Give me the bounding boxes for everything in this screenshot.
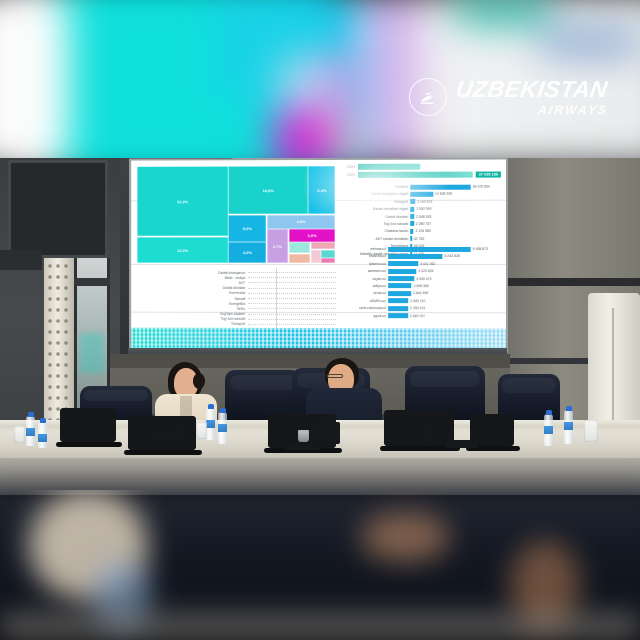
bar-label: samtsem.uz [342,269,388,273]
bar-chart-row[interactable]: agmk.uz2 260 707 [342,313,503,319]
bar-chart-row[interactable]: Chakana savdo2 234 583 [342,228,503,234]
bar-chart-domains: mehnat.uz9 458 873bolalvita.uz6 242 828t… [342,246,503,320]
bar-label: Chakana savdo [342,229,410,233]
treemap-cell[interactable] [289,242,311,253]
bar-fill [388,306,408,311]
blur-shape [0,0,70,160]
bar-label: tptkerlov.uz [342,262,388,266]
bar-chart-row[interactable]: sayfer.uz3 005 473 [342,276,503,282]
bar-value: 3 149 673 [417,200,432,204]
kpi-total-badge: 37 035 186 [476,172,501,178]
list-item-label: Sanoat [137,296,248,300]
bar-label: agmk.uz [342,314,388,318]
water-bottle [564,410,573,444]
bar-label: Davlat xizmatlari organi [342,207,410,211]
list-item-label: AKT [137,281,248,285]
kpi-year-label: 2025 [342,173,355,177]
leader-line [248,277,336,278]
monitor-base [124,450,202,455]
bar-value: 32 763 [414,237,424,241]
bar-value: 2 642 590 [413,291,428,295]
leader-line [248,282,336,283]
conference-photo: 31,3%12,0%18,6%6,4%5,0%4,0%4,8%3,7%3,0% … [0,158,640,495]
leader-line [248,303,336,304]
monitor-base [56,442,122,447]
bar-fill [388,313,408,318]
bar-fill [388,254,442,259]
list-item-label: Tog'-kon sanoati [137,317,248,321]
bar-fill [388,298,408,303]
bottle-cap [40,418,46,423]
bottle-cap [220,408,226,413]
bar-value: 2 548 526 [416,214,431,218]
bar-fill [410,199,415,204]
bottle-cap [28,412,34,417]
bar-label: Davlat boshqaruv organi [342,192,410,196]
microphone-base [446,440,478,448]
bar-label: AKT sohasi xizmatlari [342,237,410,241]
treemap-cell[interactable]: 5,0% [229,215,266,242]
kpi-header: 2024 2025 37 035 186 [342,163,501,179]
bar-value: 2 293 101 [410,306,425,310]
bar-chart-row[interactable]: Tog'-kon sanoati2 280 757 [342,221,503,227]
bottle-label [26,428,35,436]
bar-label: ASMRu.uz [342,299,388,303]
bar-value: 3 005 473 [416,277,431,281]
kpi-year-prev: 2024 [342,165,355,169]
bottle-label [564,422,573,430]
treemap-cell[interactable] [321,258,335,263]
treemap-cell[interactable] [289,254,311,264]
microphone-base [148,438,178,445]
leader-line [248,308,336,309]
bar-value: 3 441 062 [420,262,435,266]
treemap-cell[interactable] [311,242,336,249]
leader-line [248,319,336,320]
treemap-cell[interactable]: 18,6% [229,166,308,214]
list-item-label: Ta'lim [137,307,248,311]
treemap-cell[interactable]: 3,0% [289,229,336,242]
bar-chart-row[interactable]: Transport3 149 673 [342,198,503,204]
bar-chart-row[interactable]: senat.uz2 642 590 [342,290,503,296]
water-bottle [544,414,553,446]
bottle-cap [546,410,552,415]
bottle-label [544,426,553,434]
bar-value: 2 280 757 [416,222,431,226]
microphone-arm [176,420,178,440]
drinking-glass [14,426,25,443]
bar-label: Davlat idoralari [342,214,410,218]
drinking-glass [196,422,207,439]
list-item-label: Energetika [137,301,248,305]
drinking-glass [298,430,309,442]
bar-value: 2 260 707 [410,314,425,318]
treemap-cell[interactable] [311,250,321,264]
brand-name: UZBEKISTAN [455,78,610,101]
bar-value: 3 223 626 [418,269,433,273]
left-dark-recess [8,160,108,258]
water-bottle [206,408,215,440]
monitor[interactable] [60,408,116,442]
bottle-label [206,420,215,428]
bar-chart-row[interactable]: Toshkent39 075 504 [342,184,503,190]
window-mullion [74,278,110,286]
bar-fill [410,229,413,234]
microphone-base [318,422,340,444]
treemap-cell[interactable] [321,250,335,258]
bottle-cap [208,404,214,409]
bar-label: sayfer.uz [342,277,388,281]
microphone-base [286,442,320,450]
window-reflection [80,333,104,373]
bar-chart-row[interactable]: bolalvita.uz6 242 828 [342,253,503,259]
kpi-bar-prev [358,164,420,170]
bar-value: 2 234 583 [416,229,431,233]
treemap-cell[interactable]: 12,0% [137,237,228,264]
treemap-cell[interactable]: 4,8% [267,215,336,229]
bar-value: 2 305 710 [410,299,425,303]
bar-chart-row[interactable]: Davlat xizmatlari organi2 682 590 [342,206,503,212]
bar-fill [410,221,414,226]
treemap-cell[interactable]: 6,4% [308,166,335,214]
bar-value: 2 696 355 [414,284,429,288]
bar-fill [410,214,414,219]
bar-label: uzhru-bikrmadi.uz [342,306,388,310]
bar-label: Transport [342,200,410,204]
bar-fill [410,184,470,189]
bar-fill [388,284,411,289]
screenshot-root: 31,3%12,0%18,6%6,4%5,0%4,0%4,8%3,7%3,0% … [0,0,640,640]
glasses-icon [327,374,343,378]
bar-chart-row[interactable]: AKT sohasi xizmatlari32 763 [342,236,503,242]
list-item-label: Davlat idoralari [137,286,248,290]
bar-value: 6 242 828 [445,254,460,258]
bottle-label [38,434,47,442]
bar-fill [388,246,471,251]
airline-emblem-icon [409,78,447,116]
bar-fill [388,291,411,296]
treemap-chart: 31,3%12,0%18,6%6,4%5,0%4,0%4,8%3,7%3,0% [137,166,336,264]
hair-bun [193,373,205,389]
water-bottle [218,412,227,444]
bar-fill [410,236,412,241]
left-ledge [0,250,42,270]
blur-shape [0,614,640,640]
leader-line [248,272,336,273]
bar-label: Toshkent [342,185,410,189]
blur-shape [540,30,640,54]
list-item-label: Bank - moliya [137,276,248,280]
bar-chart-row[interactable]: adliya.uz2 696 355 [342,283,503,289]
water-bottle [38,422,47,448]
brand-subtitle: AIRWAYS [537,104,609,116]
bar-chart-row[interactable]: Davlat idoralari2 548 526 [342,213,503,219]
bar-label: Tog'-kon sanoati [342,222,410,226]
list-item-label: Kommunal [137,291,248,295]
list-item-label: Transport [137,322,248,326]
microphone-arm [430,420,432,442]
bar-chart-row[interactable]: ASMRu.uz2 305 710 [342,298,503,304]
bottom-blur-shapes [0,490,640,640]
bar-fill [410,207,414,212]
kpi-bar-current [358,172,473,178]
bottle-cap [566,406,572,411]
leader-line [248,324,336,325]
bar-value: 9 458 873 [473,247,488,251]
leader-line [248,288,336,289]
bar-fill [388,269,416,274]
treemap-cell[interactable]: 3,7% [267,229,289,263]
bar-value: 2 682 590 [416,207,431,211]
leader-line [248,298,336,299]
water-bottle [26,416,35,446]
bar-chart-row[interactable]: mehnat.uz9 458 873 [342,246,503,252]
bar-value: 39 075 504 [473,185,490,189]
video-wall-dashboard[interactable]: 31,3%12,0%18,6%6,4%5,0%4,0%4,8%3,7%3,0% … [131,159,506,350]
bar-value: 14 668 208 [435,192,452,196]
uzbekistan-airways-watermark: UZBEKISTAN AIRWAYS [409,78,608,116]
bar-label: adliya.uz [342,284,388,288]
bar-fill [410,192,433,197]
leader-line [248,293,336,294]
blur-shape [455,0,550,24]
bar-fill [388,261,418,266]
bar-chart-row[interactable]: samtsem.uz3 223 626 [342,268,503,274]
bottle-label [218,424,227,432]
bar-label: senat.uz [342,291,388,295]
list-item-label: Sog'liqni saqlash [137,312,248,316]
bar-chart-row[interactable]: Davlat boshqaruv organi14 668 208 [342,191,503,197]
treemap-cell[interactable]: 4,0% [229,242,266,263]
bar-label: bolalvita.uz [342,254,388,258]
list-item-label: Davlat boshqaruvi [137,271,248,275]
bar-fill [388,276,414,281]
bar-chart-row[interactable]: uzhru-bikrmadi.uz2 293 101 [342,305,503,311]
leader-line [248,313,336,314]
drinking-glass [584,420,598,442]
blur-shape [360,512,450,562]
bar-chart-row[interactable]: tptkerlov.uz3 441 062 [342,261,503,267]
monitor[interactable] [384,410,454,446]
treemap-cell[interactable]: 31,3% [137,166,228,236]
bar-label: mehnat.uz [342,247,388,251]
wall-seam [500,278,640,286]
chart-axis-line [276,268,277,336]
